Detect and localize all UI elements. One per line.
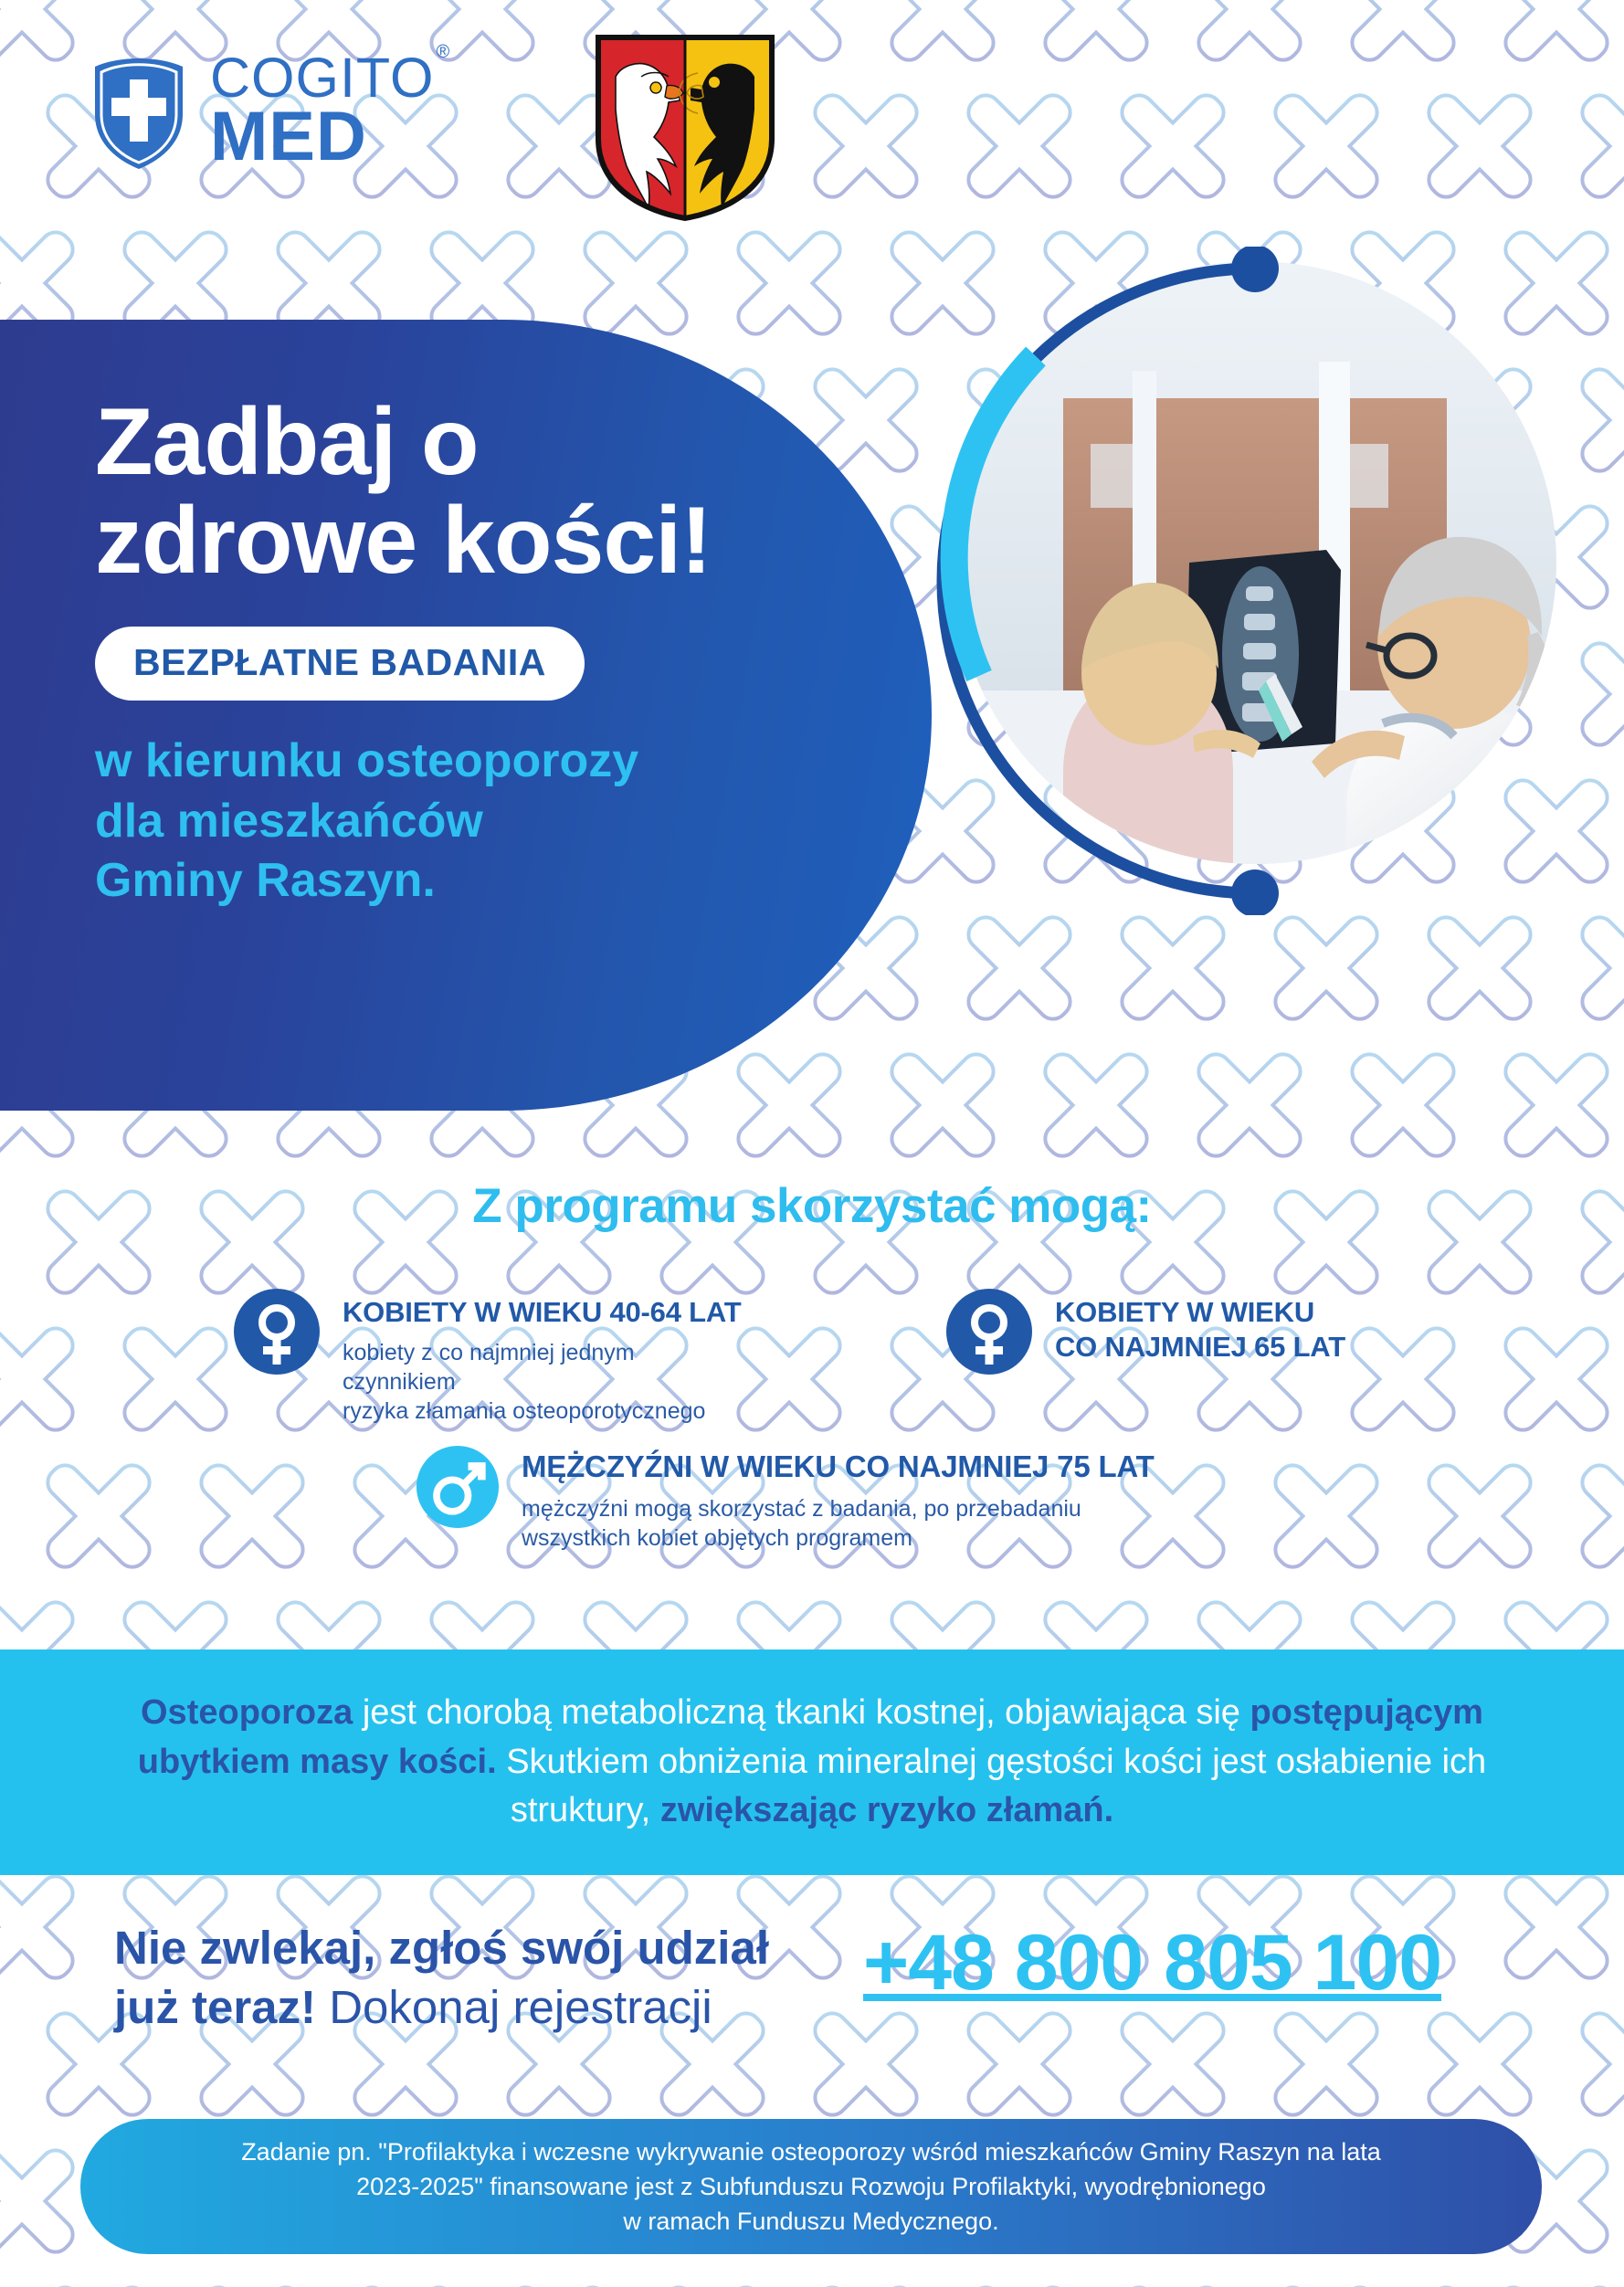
- cta-line2-regular: Dokonaj rejestracji: [316, 1981, 712, 2033]
- female-venus-icon: [945, 1288, 1033, 1375]
- eligibility-item-women-40-64: KOBIETY W WIEKU 40-64 LAT kobiety z co n…: [233, 1288, 744, 1426]
- shield-cross-icon: [91, 50, 186, 171]
- logo-text-top: COGITO: [210, 47, 435, 109]
- info-highlight: Osteoporoza: [141, 1693, 363, 1732]
- cta-line1: Nie zwlekaj, zgłoś swój udział: [114, 1922, 769, 1974]
- eligibility-item-title: KOBIETY W WIEKU CO NAJMNIEJ 65 LAT: [1055, 1295, 1345, 1365]
- call-to-action-section: Nie zwlekaj, zgłoś swój udział już teraz…: [0, 1909, 1624, 2082]
- hero-text-block: Zadbaj o zdrowe kości! BEZPŁATNE BADANIA…: [95, 393, 844, 912]
- funding-note: Zadanie pn. "Profilaktyka i wczesne wykr…: [149, 2134, 1473, 2240]
- eligibility-section: Z programu skorzystać mogą: KOBIETY W WI…: [0, 1178, 1624, 1234]
- male-mars-icon: [416, 1445, 500, 1529]
- cogito-med-logo: COGITO® MED: [91, 50, 448, 171]
- hero-subtitle: w kierunku osteoporozy dla mieszkańców G…: [95, 732, 844, 912]
- poster-header: COGITO® MED: [0, 0, 1624, 320]
- eligibility-item-title: KOBIETY W WIEKU 40-64 LAT: [343, 1295, 744, 1330]
- hero-decorative-arcs: [921, 247, 1589, 915]
- osteoporosis-info-band: Osteoporoza jest chorobą metaboliczną tk…: [0, 1649, 1624, 1875]
- raszyn-coat-of-arms: [585, 29, 786, 226]
- eligibility-heading: Z programu skorzystać mogą:: [0, 1178, 1624, 1234]
- cogito-wordmark: COGITO® MED: [210, 52, 448, 169]
- eligibility-item-desc: kobiety z co najmniej jednym czynnikiem …: [343, 1338, 744, 1426]
- funding-footer: Zadanie pn. "Profilaktyka i wczesne wykr…: [80, 2119, 1542, 2254]
- info-plain: jest chorobą metaboliczną tkanki kostnej…: [363, 1693, 1250, 1732]
- phone-number-link[interactable]: +48 800 805 100: [863, 1918, 1441, 2008]
- info-highlight: zwiększając ryzyko złamań.: [660, 1791, 1113, 1829]
- female-venus-icon: [233, 1288, 321, 1375]
- eligibility-item-desc: mężczyźni mogą skorzystać z badania, po …: [522, 1494, 1155, 1553]
- page-title: Zadbaj o zdrowe kości!: [95, 393, 844, 590]
- eligibility-item-title: MĘŻCZYŹNI W WIEKU CO NAJMNIEJ 75 LAT: [522, 1449, 1155, 1486]
- logo-text-bottom: MED: [210, 105, 448, 169]
- cta-copy: Nie zwlekaj, zgłoś swój udział już teraz…: [114, 1918, 891, 2038]
- cta-line2-bold: już teraz!: [114, 1981, 316, 2033]
- eligibility-item-men-75-plus: MĘŻCZYŹNI W WIEKU CO NAJMNIEJ 75 LAT męż…: [416, 1445, 1238, 1553]
- osteoporosis-description: Osteoporoza jest chorobą metaboliczną tk…: [81, 1689, 1543, 1837]
- eligibility-item-women-65-plus: KOBIETY W WIEKU CO NAJMNIEJ 65 LAT: [945, 1288, 1457, 1375]
- registered-mark: ®: [437, 42, 451, 62]
- hero-photo-block: [921, 247, 1589, 915]
- status-badge: BEZPŁATNE BADANIA: [95, 627, 585, 701]
